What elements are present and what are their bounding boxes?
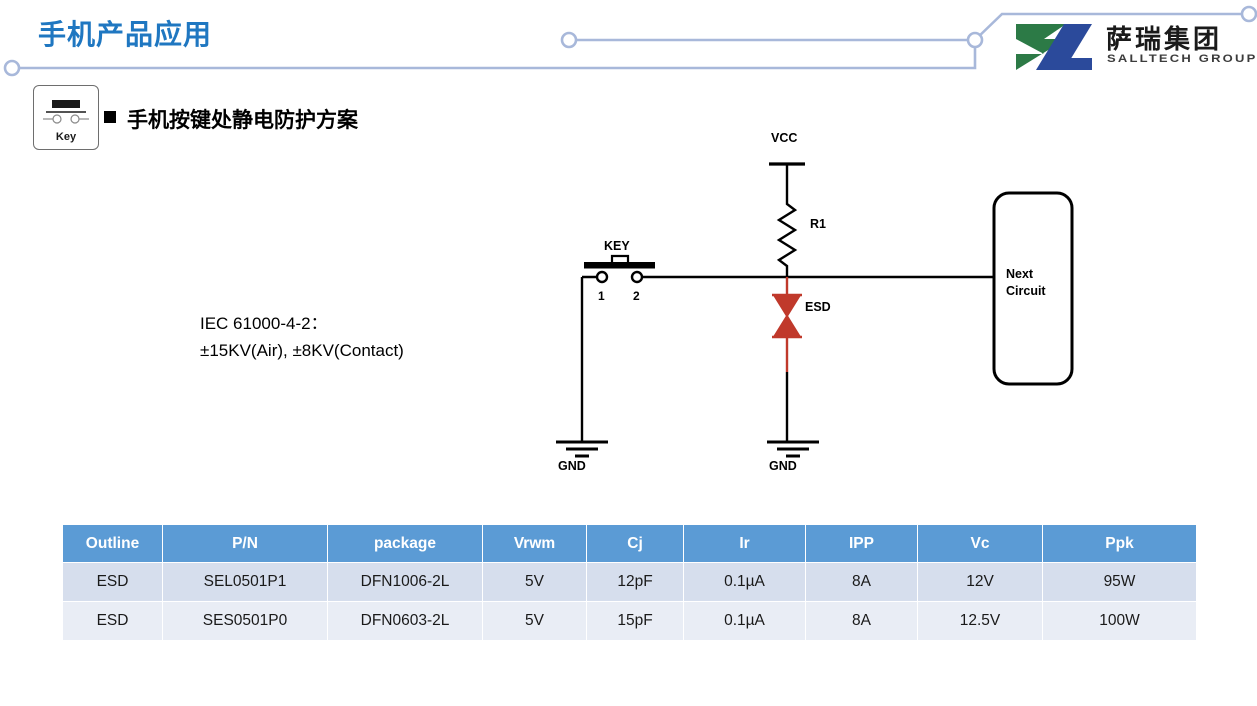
r1-label: R1: [810, 217, 826, 231]
iec-spec-text: IEC 61000-4-2： ±15KV(Air), ±8KV(Contact): [200, 310, 404, 364]
col-header-outline: Outline: [63, 525, 163, 563]
col-header-vc: Vc: [918, 525, 1043, 563]
cell-pn: SES0501P0: [163, 602, 328, 641]
slide-root: 手机产品应用 萨瑞集团 SALLTECH GROUP Key 手机按键处静电防护…: [0, 0, 1257, 706]
table-header-row: Outline P/N package Vrwm Cj Ir IPP Vc Pp…: [63, 525, 1197, 563]
key-terminal-1: [597, 272, 607, 282]
cell-vc: 12V: [918, 563, 1043, 602]
cell-ir: 0.1µA: [684, 602, 806, 641]
vcc-label: VCC: [771, 131, 797, 145]
salltech-logo-icon: [1014, 22, 1096, 72]
cell-vc: 12.5V: [918, 602, 1043, 641]
cell-outline: ESD: [63, 602, 163, 641]
cell-vrwm: 5V: [483, 563, 587, 602]
cell-ppk: 95W: [1043, 563, 1197, 602]
page-title: 手机产品应用: [38, 13, 212, 53]
col-header-vrwm: Vrwm: [483, 525, 587, 563]
col-header-ipp: IPP: [806, 525, 918, 563]
key-chip-label: Key: [56, 131, 77, 143]
push-button-icon: Key: [34, 86, 98, 149]
spec-table: Outline P/N package Vrwm Cj Ir IPP Vc Pp…: [62, 524, 1197, 641]
circuit-diagram: VCC R1 ESD KEY 1 2 GND GND Next Circuit: [520, 120, 1120, 490]
col-header-pn: P/N: [163, 525, 328, 563]
gnd-right-label: GND: [769, 459, 797, 473]
square-bullet-icon: [104, 111, 116, 123]
gnd-left-label: GND: [558, 459, 586, 473]
key-actuator-cap: [612, 256, 628, 262]
brand-logo: 萨瑞集团 SALLTECH GROUP: [1014, 21, 1250, 73]
key-terminal-2: [632, 272, 642, 282]
cell-package: DFN1006-2L: [328, 563, 483, 602]
tvs-triangle-bottom: [774, 316, 800, 337]
logo-name-cn: 萨瑞集团: [1106, 19, 1222, 56]
col-header-ppk: Ppk: [1043, 525, 1197, 563]
key-pin1-label: 1: [598, 289, 605, 303]
cell-ppk: 100W: [1043, 602, 1197, 641]
col-header-cj: Cj: [587, 525, 684, 563]
iec-spec-line2: ±15KV(Air), ±8KV(Contact): [200, 337, 404, 364]
cell-cj: 15pF: [587, 602, 684, 641]
next-circuit-line1: Next: [1006, 266, 1046, 283]
section-heading: 手机按键处静电防护方案: [127, 104, 358, 134]
tvs-triangle-top: [774, 295, 800, 316]
logo-name-en: SALLTECH GROUP: [1107, 52, 1257, 64]
col-header-ir: Ir: [684, 525, 806, 563]
col-header-package: package: [328, 525, 483, 563]
cell-outline: ESD: [63, 563, 163, 602]
cell-ipp: 8A: [806, 602, 918, 641]
cell-ir: 0.1µA: [684, 563, 806, 602]
cell-package: DFN0603-2L: [328, 602, 483, 641]
key-pin2-label: 2: [633, 289, 640, 303]
iec-spec-line1: IEC 61000-4-2：: [200, 310, 404, 337]
next-circuit-line2: Circuit: [1006, 283, 1046, 300]
key-label: KEY: [604, 239, 630, 253]
esd-label: ESD: [805, 300, 831, 314]
cell-pn: SEL0501P1: [163, 563, 328, 602]
cell-vrwm: 5V: [483, 602, 587, 641]
table-row: ESD SES0501P0 DFN0603-2L 5V 15pF 0.1µA 8…: [63, 602, 1197, 641]
key-chip-icon: Key: [33, 85, 99, 150]
key-actuator-bar: [584, 262, 655, 269]
cell-ipp: 8A: [806, 563, 918, 602]
table-row: ESD SEL0501P1 DFN1006-2L 5V 12pF 0.1µA 8…: [63, 563, 1197, 602]
cell-cj: 12pF: [587, 563, 684, 602]
next-circuit-label: Next Circuit: [1006, 266, 1046, 300]
resistor-r1-symbol: [779, 200, 795, 277]
